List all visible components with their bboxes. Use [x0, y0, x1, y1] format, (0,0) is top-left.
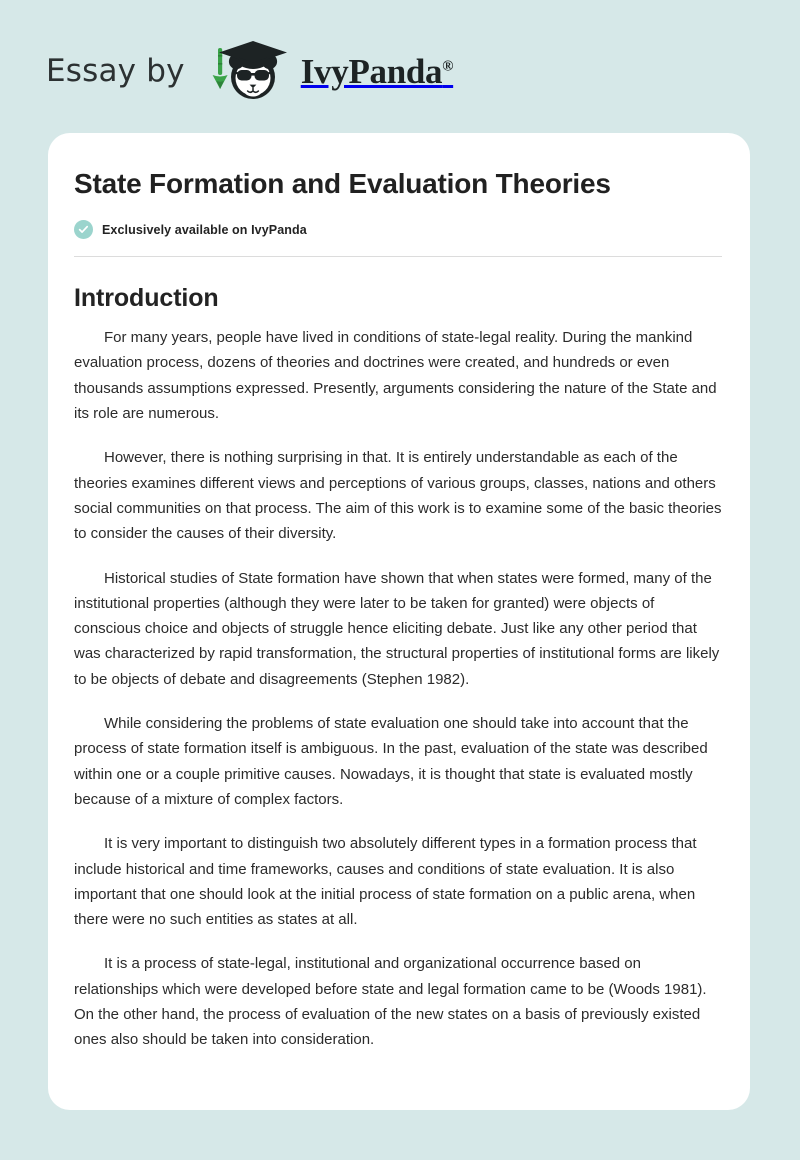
status-badge: Exclusively available on IvyPanda	[74, 220, 722, 239]
check-circle-icon	[74, 220, 93, 239]
ivypanda-wordmark-text: IvyPanda	[301, 52, 443, 91]
body-copy: For many years, people have lived in con…	[74, 325, 724, 1052]
registered-trademark-mark: ®	[442, 58, 453, 74]
document-card: State Formation and Evaluation Theories …	[48, 133, 750, 1110]
essay-by-label: Essay by	[46, 56, 185, 87]
brand-header: Essay by	[46, 36, 453, 106]
title-divider	[74, 256, 722, 257]
page-root: Essay by	[0, 0, 800, 1160]
section-heading-introduction: Introduction	[74, 283, 722, 313]
paragraph: For many years, people have lived in con…	[74, 325, 724, 426]
ivypanda-logo-link[interactable]: IvyPanda®	[199, 37, 453, 105]
paragraph: It is a process of state-legal, institut…	[74, 951, 724, 1052]
paragraph: Historical studies of State formation ha…	[74, 566, 724, 692]
ivypanda-wordmark: IvyPanda®	[301, 54, 453, 89]
page-title: State Formation and Evaluation Theories	[74, 167, 722, 201]
ivypanda-panda-graduate-logo	[199, 37, 295, 105]
paragraph: While considering the problems of state …	[74, 711, 724, 812]
paragraph: It is very important to distinguish two …	[74, 831, 724, 932]
status-badge-label: Exclusively available on IvyPanda	[102, 223, 307, 237]
paragraph: However, there is nothing surprising in …	[74, 445, 724, 546]
